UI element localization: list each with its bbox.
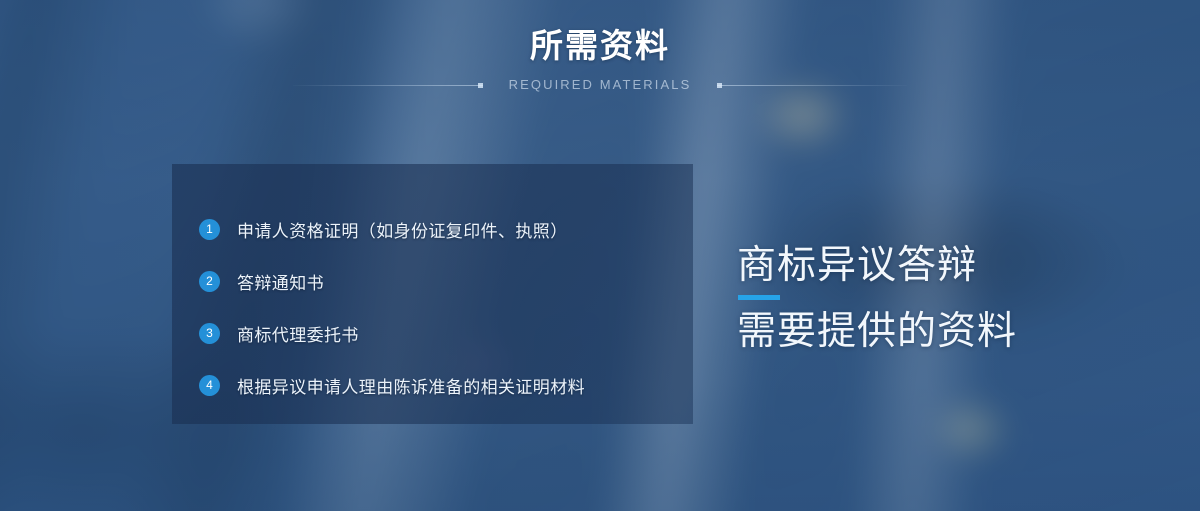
page-subtitle: REQUIRED MATERIALS xyxy=(483,74,718,96)
divider-dot-left xyxy=(478,83,483,88)
list-item-label: 根据异议申请人理由陈诉准备的相关证明材料 xyxy=(237,373,585,398)
page-title: 所需资料 xyxy=(0,26,1200,66)
subtitle-row: REQUIRED MATERIALS xyxy=(0,74,1200,96)
required-materials-banner: 所需资料 REQUIRED MATERIALS 1 申请人资格证明（如身份证复印… xyxy=(0,0,1200,511)
headline-line-1: 商标异议答辩 xyxy=(737,240,1157,292)
list-item: 3 商标代理委托书 xyxy=(199,315,677,351)
list-item-label: 商标代理委托书 xyxy=(237,321,359,346)
list-item-label: 答辩通知书 xyxy=(237,269,324,294)
list-item: 2 答辩通知书 xyxy=(199,263,677,299)
list-number-badge: 3 xyxy=(199,323,220,344)
divider-line-right xyxy=(717,85,907,86)
materials-panel: 1 申请人资格证明（如身份证复印件、执照） 2 答辩通知书 3 商标代理委托书 … xyxy=(172,164,693,424)
list-item: 1 申请人资格证明（如身份证复印件、执照） xyxy=(199,211,677,247)
divider-line-left xyxy=(293,85,483,86)
list-item-label: 申请人资格证明（如身份证复印件、执照） xyxy=(237,217,568,242)
list-number-badge: 2 xyxy=(199,271,220,292)
list-number-badge: 1 xyxy=(199,219,220,240)
materials-list: 1 申请人资格证明（如身份证复印件、执照） 2 答辩通知书 3 商标代理委托书 … xyxy=(199,211,677,419)
headline-line-2: 需要提供的资料 xyxy=(737,306,1157,358)
headline-block: 商标异议答辩 需要提供的资料 xyxy=(737,240,1157,358)
banner-header: 所需资料 REQUIRED MATERIALS xyxy=(0,26,1200,96)
list-item: 4 根据异议申请人理由陈诉准备的相关证明材料 xyxy=(199,367,677,403)
divider-dot-right xyxy=(717,83,722,88)
headline-accent-bar xyxy=(738,295,780,300)
list-number-badge: 4 xyxy=(199,375,220,396)
